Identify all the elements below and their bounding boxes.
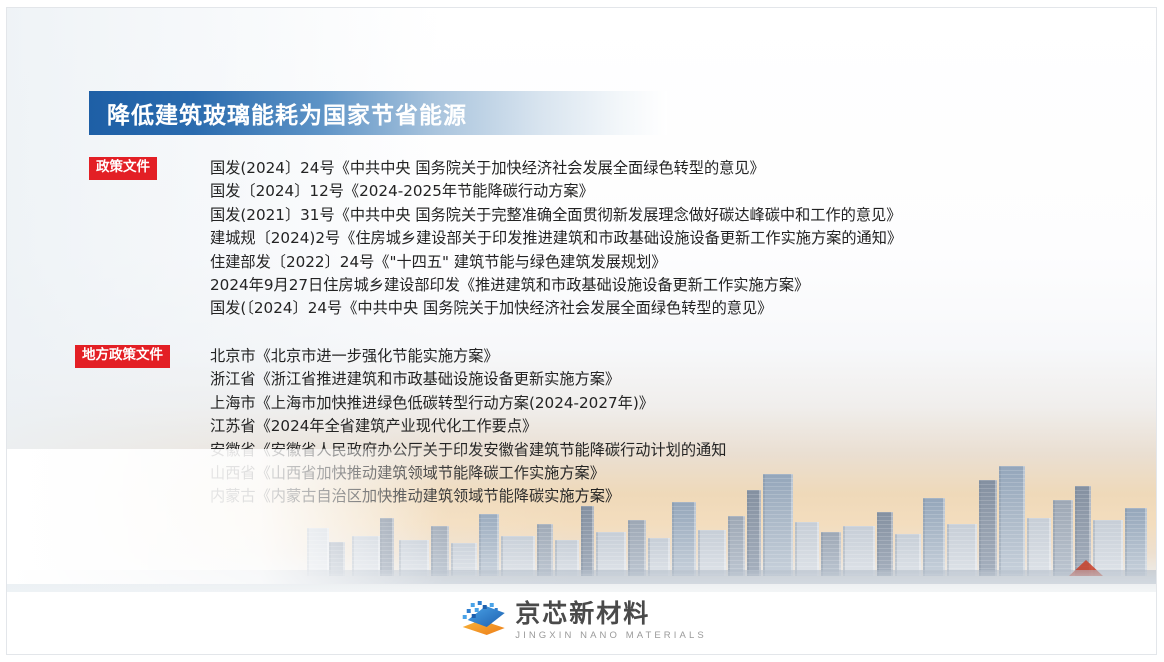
section-local-policy-documents: 地方政策文件 北京市《北京市进一步强化节能实施方案》 浙江省《浙江省推进建筑和市…	[89, 345, 726, 509]
logo-text-block: 京芯新材料 JINGXIN NANO MATERIALS	[515, 601, 707, 641]
jingxin-logo-icon	[458, 600, 506, 642]
local-policy-document-list: 北京市《北京市进一步强化节能实施方案》 浙江省《浙江省推进建筑和市政基础设施设备…	[210, 345, 726, 509]
list-item: 国发(〔2024〕24号《中共中央 国务院关于加快经济社会发展全面绿色转型的意见…	[210, 297, 902, 320]
logo-company-name-cn: 京芯新材料	[515, 601, 707, 626]
list-item: 山西省《山西省加快推动建筑领域节能降碳工作实施方案》	[210, 462, 726, 485]
list-item: 国发(2024〕24号《中共中央 国务院关于加快经济社会发展全面绿色转型的意见》	[210, 157, 902, 180]
list-item: 江苏省《2024年全省建筑产业现代化工作要点》	[210, 415, 726, 438]
list-item: 安徽省《安徽省人民政府办公厅关于印发安徽省建筑节能降碳行动计划的通知	[210, 439, 726, 462]
badge-policy-documents: 政策文件	[89, 157, 157, 180]
list-item: 上海市《上海市加快推进绿色低碳转型行动方案(2024-2027年)》	[210, 392, 726, 415]
list-item: 2024年9月27日住房城乡建设部印发《推进建筑和市政基础设施设备更新工作实施方…	[210, 274, 902, 297]
list-item: 北京市《北京市进一步强化节能实施方案》	[210, 345, 726, 368]
list-item: 浙江省《浙江省推进建筑和市政基础设施设备更新实施方案》	[210, 368, 726, 391]
section-policy-documents: 政策文件 国发(2024〕24号《中共中央 国务院关于加快经济社会发展全面绿色转…	[89, 157, 902, 321]
logo-company-name-en: JINGXIN NANO MATERIALS	[515, 630, 707, 641]
slide-canvas: 降低建筑玻璃能耗为国家节省能源 政策文件 国发(2024〕24号《中共中央 国务…	[6, 7, 1157, 655]
slide-title-bar: 降低建筑玻璃能耗为国家节省能源	[89, 91, 667, 135]
list-item: 国发(2021〕31号《中共中央 国务院关于完整准确全面贯彻新发展理念做好碳达峰…	[210, 204, 902, 227]
company-logo: 京芯新材料 JINGXIN NANO MATERIALS	[458, 600, 707, 642]
page-title: 降低建筑玻璃能耗为国家节省能源	[107, 96, 467, 130]
list-item: 住建部发〔2022〕24号《"十四五" 建筑节能与绿色建筑发展规划》	[210, 251, 902, 274]
slide-footer: 京芯新材料 JINGXIN NANO MATERIALS	[7, 592, 1157, 654]
badge-local-policy-documents: 地方政策文件	[75, 345, 170, 368]
list-item: 内蒙古《内蒙古自治区加快推动建筑领域节能降碳实施方案》	[210, 485, 726, 508]
policy-document-list: 国发(2024〕24号《中共中央 国务院关于加快经济社会发展全面绿色转型的意见》…	[210, 157, 902, 321]
list-item: 国发〔2024〕12号《2024-2025年节能降碳行动方案》	[210, 180, 902, 203]
list-item: 建城规〔2024)2号《住房城乡建设部关于印发推进建筑和市政基础设施设备更新工作…	[210, 227, 902, 250]
city-ground	[7, 570, 1157, 584]
